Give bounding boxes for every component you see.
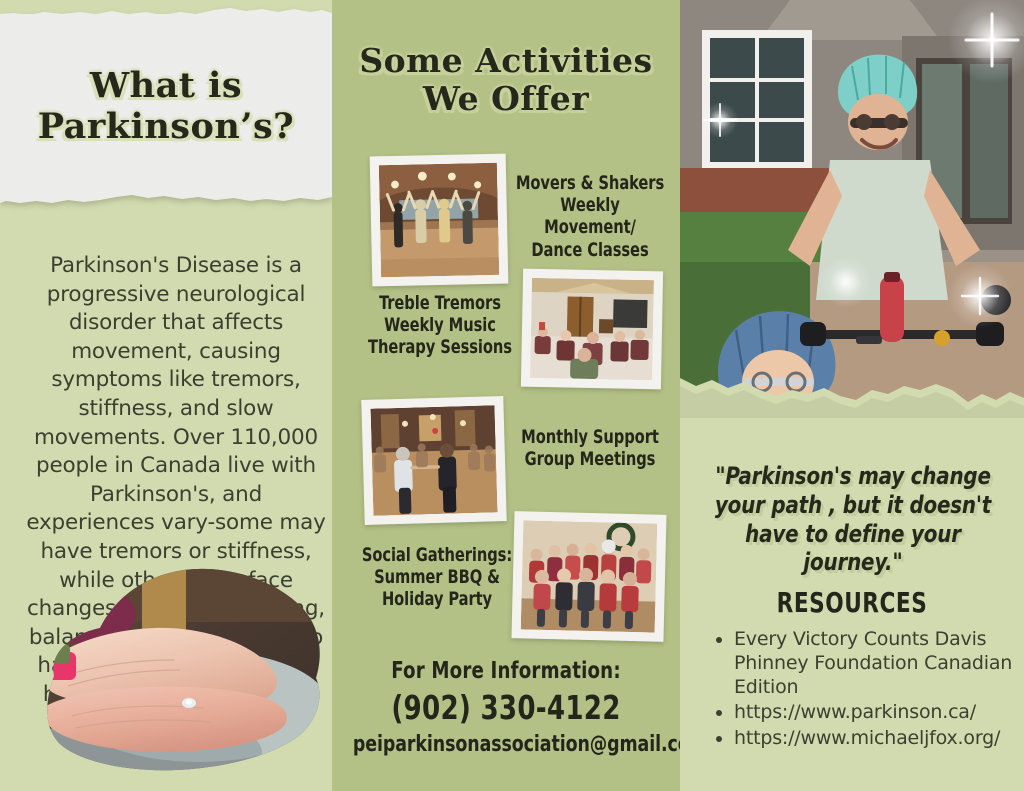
contact-email[interactable]: peiparkinsonassociation@gmail.com: [353, 732, 659, 757]
contact-info-label: For More Information:: [353, 658, 659, 684]
page-title: What is Parkinson’s?: [0, 66, 332, 147]
page-title-line-2: Parkinson’s?: [0, 107, 332, 148]
activity-caption-movers-shakers: Movers & Shakers Weekly Movement/ Dance …: [513, 172, 668, 261]
activity-caption-social-gatherings: Social Gatherings: Summer BBQ & Holiday …: [360, 544, 513, 611]
resources-heading: RESOURCES: [704, 586, 1000, 619]
page-title-line-1: What is: [0, 66, 332, 107]
activities-title-line-1: Some Activities: [332, 42, 680, 80]
support-group-photo: [361, 396, 506, 525]
torn-edge-bottom-icon: [0, 186, 332, 208]
torn-edge-overlay-icon: [680, 360, 1024, 440]
inspirational-quote: "Parkinson's may change your path , but …: [707, 462, 1000, 577]
activity-caption-treble-tremors: Treble Tremors Weekly Music Therapy Sess…: [367, 292, 513, 359]
social-gathering-photo: [511, 511, 666, 642]
left-panel: What is Parkinson’s? Parkinson's Disease…: [0, 0, 332, 791]
activities-title-line-2: We Offer: [332, 80, 680, 118]
dance-class-photo-image: [379, 163, 499, 277]
social-gathering-photo-image: [521, 520, 658, 632]
activities-title: Some Activities We Offer: [332, 42, 680, 119]
cycling-photo: [680, 0, 1024, 420]
contact-block: For More Information: (902) 330-4122 pei…: [353, 658, 659, 757]
elderly-hands-photo: [24, 556, 334, 784]
list-item[interactable]: https://www.parkinson.ca/: [734, 701, 1024, 725]
list-item[interactable]: https://www.michaeljfox.org/: [734, 727, 1024, 751]
support-group-photo-image: [371, 405, 498, 515]
contact-phone[interactable]: (902) 330-4122: [353, 688, 659, 727]
music-therapy-photo-image: [530, 278, 654, 380]
dance-class-photo: [370, 154, 509, 287]
brochure-page: What is Parkinson’s? Parkinson's Disease…: [0, 0, 1024, 791]
activity-caption-support-group: Monthly Support Group Meetings: [513, 426, 668, 470]
torn-edge-top-icon: [0, 5, 332, 21]
list-item: Every Victory Counts Davis Phinney Found…: [734, 628, 1024, 699]
resources-list: Every Victory Counts Davis Phinney Found…: [712, 628, 1024, 753]
music-therapy-photo: [521, 269, 663, 390]
